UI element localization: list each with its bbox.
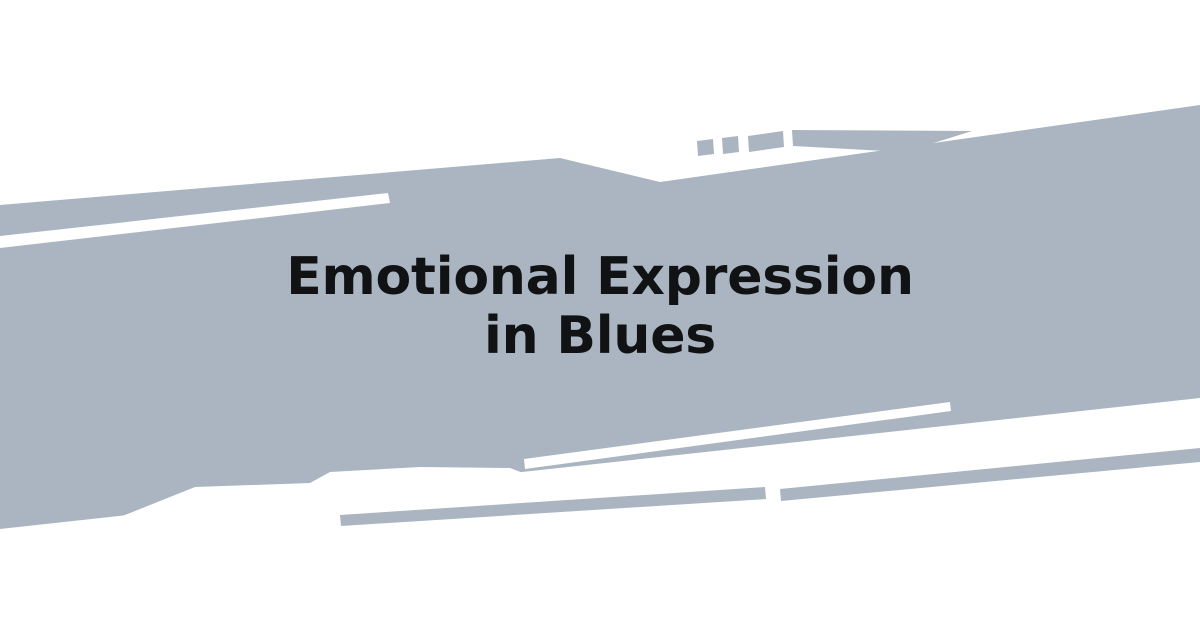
top-small-dash-1-shape	[697, 139, 714, 156]
top-medium-bar-shape	[748, 131, 784, 152]
decorative-banner-artwork	[0, 0, 1200, 630]
banner-canvas: Emotional Expression in Blues	[0, 0, 1200, 630]
top-small-dash-2-shape	[722, 136, 739, 154]
